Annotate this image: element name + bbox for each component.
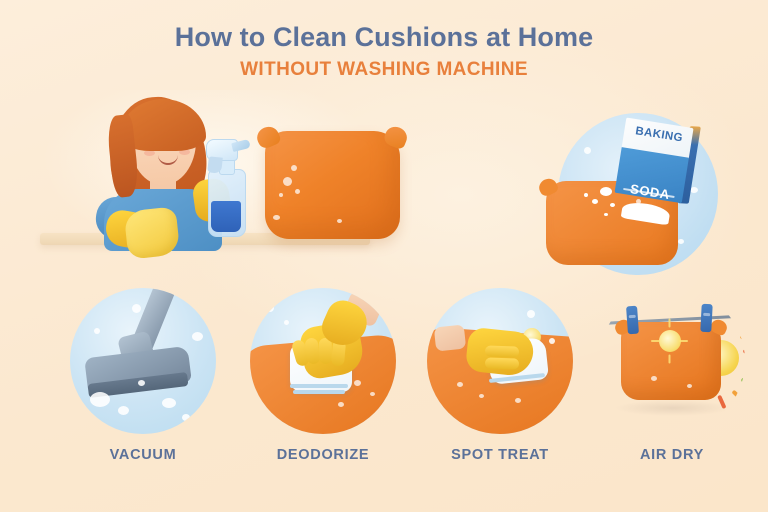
spray-bottle-icon bbox=[200, 123, 258, 239]
vacuum-illustration bbox=[70, 288, 216, 434]
air-dry-illustration bbox=[599, 288, 745, 434]
infographic-canvas: How to Clean Cushions at Home WITHOUT WA… bbox=[0, 0, 768, 512]
drop-shadow bbox=[615, 400, 731, 416]
sun-sparkle-ray bbox=[651, 340, 660, 342]
sparkle bbox=[515, 398, 521, 403]
spot-treat-illustration bbox=[427, 288, 573, 434]
sparkle bbox=[479, 394, 484, 398]
bubble bbox=[138, 380, 145, 386]
bubble bbox=[94, 328, 100, 334]
soda-spill bbox=[584, 193, 588, 197]
sun-sparkle-ray bbox=[679, 340, 688, 342]
sparkle bbox=[457, 382, 463, 387]
bubble bbox=[527, 310, 535, 318]
bubble bbox=[678, 239, 684, 244]
bubble bbox=[90, 392, 110, 407]
cleaning-cloth-icon bbox=[124, 206, 181, 259]
step-air-dry[interactable]: AIR DRY bbox=[596, 288, 748, 463]
box-bottom-panel: SODA bbox=[615, 147, 689, 203]
baking-soda-box-icon: BAKING SODA bbox=[615, 118, 702, 205]
sparkle bbox=[337, 219, 342, 223]
wipe-edge bbox=[290, 384, 348, 388]
sparkle bbox=[338, 402, 344, 407]
hero-scene: BAKING SODA bbox=[0, 95, 768, 280]
soda-spill bbox=[592, 199, 598, 204]
sun-ray bbox=[741, 378, 745, 387]
sparkle bbox=[687, 384, 692, 388]
sparkle bbox=[295, 189, 300, 194]
sun-ray bbox=[743, 346, 745, 353]
spray-liquid bbox=[211, 201, 241, 232]
step-label-air-dry: AIR DRY bbox=[596, 447, 748, 463]
box-label-baking: BAKING bbox=[628, 124, 691, 146]
sparkle bbox=[370, 392, 375, 396]
soda-spill bbox=[600, 187, 612, 196]
bubble bbox=[118, 406, 129, 415]
sparkle bbox=[651, 376, 657, 381]
step-spot-treat[interactable]: SPOT TREAT bbox=[424, 288, 576, 463]
step-label-vacuum: VACUUM bbox=[67, 447, 219, 463]
sun-ray bbox=[739, 328, 745, 340]
bubble bbox=[182, 414, 190, 421]
sparkle bbox=[273, 215, 280, 220]
sparkle bbox=[354, 380, 361, 386]
soda-spill bbox=[610, 203, 615, 207]
step-deodorize[interactable]: DEODORIZE bbox=[247, 288, 399, 463]
bubble bbox=[266, 304, 274, 312]
title-block: How to Clean Cushions at Home WITHOUT WA… bbox=[0, 22, 768, 81]
steps-row: VACUUM DEODORIZE bbox=[0, 288, 768, 488]
bubble bbox=[192, 332, 203, 341]
bubble bbox=[162, 398, 176, 408]
sun-sparkle-overlay bbox=[659, 330, 681, 352]
cleaning-woman bbox=[62, 93, 292, 253]
glove-finger bbox=[485, 357, 519, 369]
sparkle bbox=[279, 193, 283, 197]
step-label-deodorize: DEODORIZE bbox=[247, 447, 399, 463]
bubble bbox=[549, 338, 555, 344]
bubble bbox=[132, 304, 141, 313]
orange-cushion bbox=[265, 131, 400, 239]
bubble bbox=[584, 147, 591, 154]
sparkle bbox=[283, 177, 292, 186]
sparkle bbox=[291, 165, 297, 171]
soda-spill bbox=[604, 213, 608, 216]
sun-sparkle-ray bbox=[669, 319, 671, 328]
wipe-edge bbox=[293, 390, 345, 394]
step-vacuum[interactable]: VACUUM bbox=[67, 288, 219, 463]
page-title: How to Clean Cushions at Home bbox=[0, 22, 768, 52]
bubble bbox=[284, 320, 289, 325]
clothespin-icon bbox=[700, 304, 712, 333]
sun-ray bbox=[732, 390, 745, 402]
glove-finger bbox=[485, 345, 519, 357]
page-subtitle: WITHOUT WASHING MACHINE bbox=[0, 59, 768, 81]
sun-sparkle-ray bbox=[669, 355, 671, 364]
step-label-spot-treat: SPOT TREAT bbox=[424, 447, 576, 463]
wrist-skin bbox=[434, 324, 466, 351]
deodorize-illustration bbox=[250, 288, 396, 434]
clothespin-icon bbox=[626, 306, 639, 335]
